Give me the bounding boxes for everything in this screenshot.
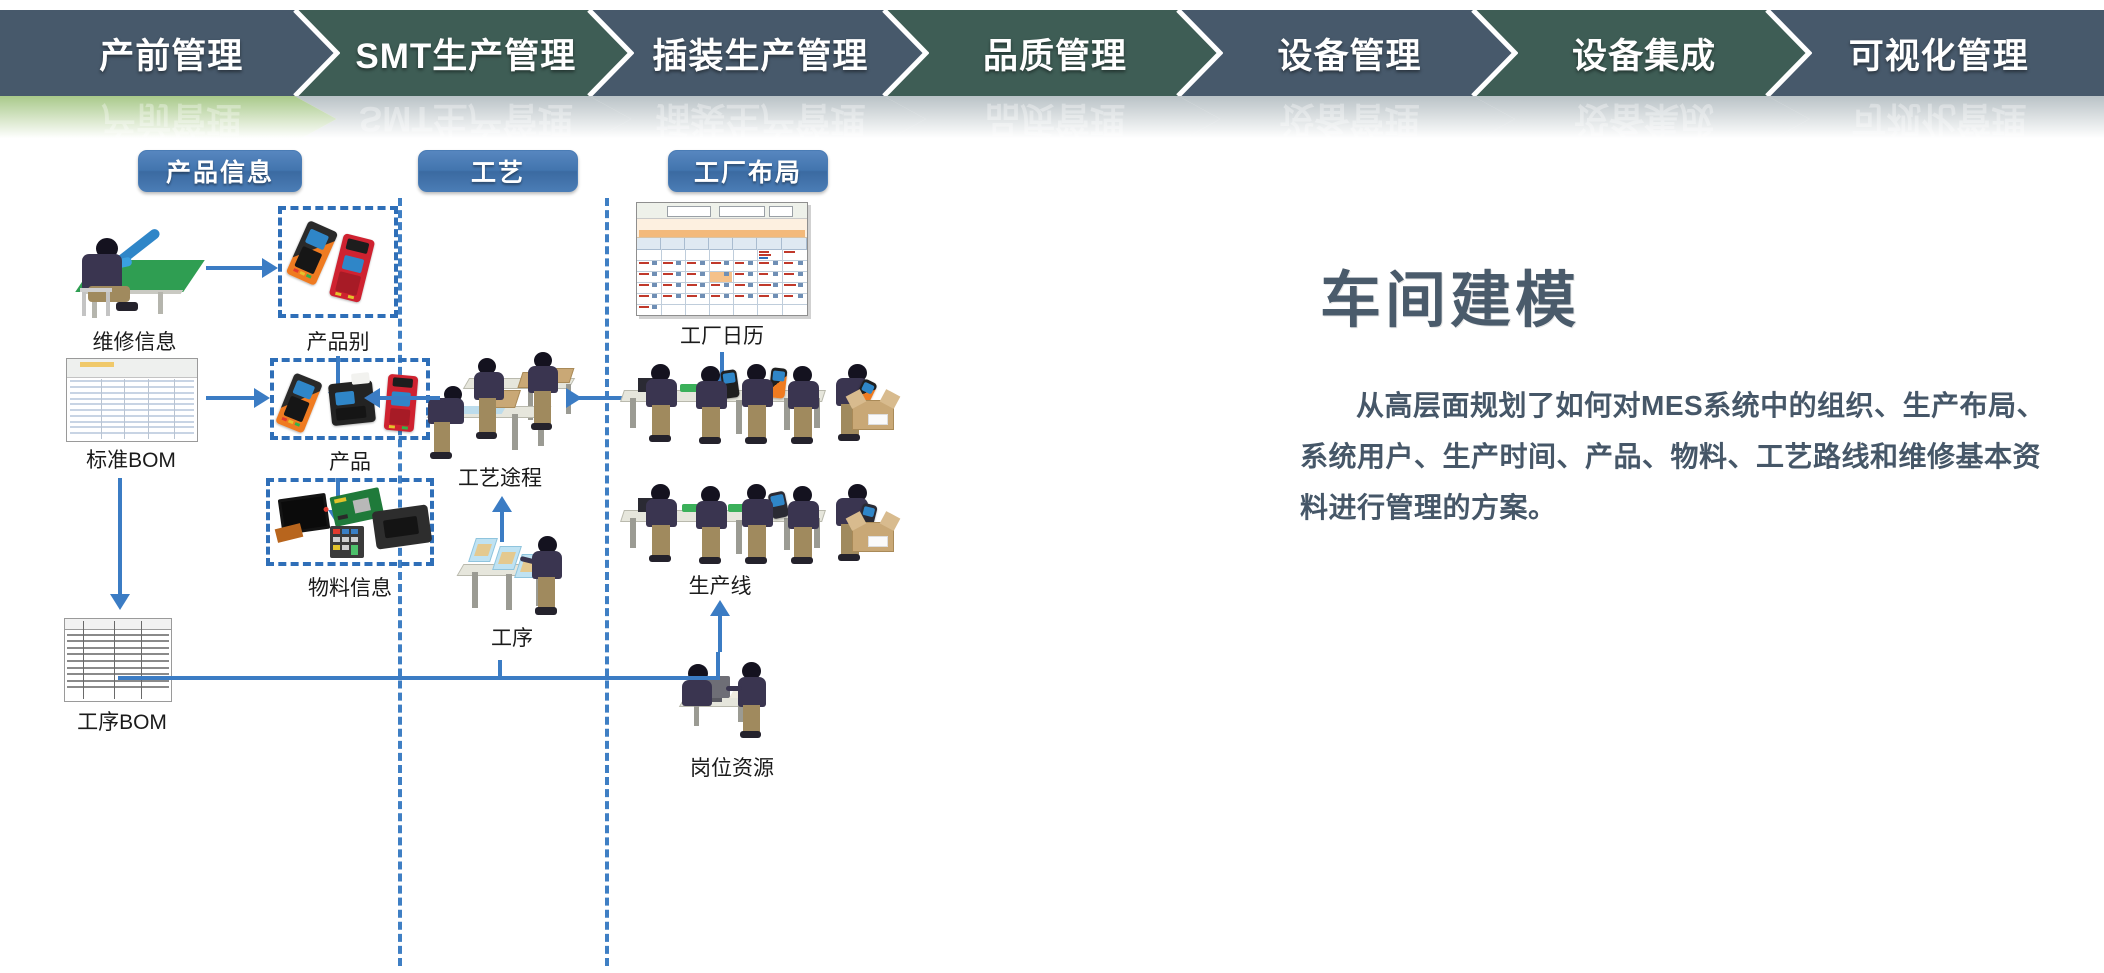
nav-chevron-1[interactable]: 产前管理 — [0, 10, 337, 96]
caption-factory-calendar: 工厂日历 — [642, 320, 802, 350]
nav-chevron-reflection-label: 可视化管理 — [1845, 96, 2026, 142]
standard-bom-thumbnail — [66, 358, 198, 442]
nav-chevron-label: 设备管理 — [1272, 28, 1422, 79]
arrow-head — [254, 388, 270, 408]
bottom-bus-line — [118, 676, 720, 680]
column-header-label: 产品信息 — [166, 153, 274, 189]
description-panel: 车间建模 从高层面规划了如何对MES系统中的组织、生产布局、系统用户、生产时间、… — [1300, 130, 2090, 973]
nav-chevron-label: 插装生产管理 — [646, 28, 868, 79]
chevron-bar-reflection: 产前管理SMT生产管理插装生产管理品质管理设备管理设备集成可视化管理 — [0, 96, 2104, 142]
arrow-head — [492, 496, 512, 512]
nav-chevron-reflection-label: 设备集成 — [1568, 96, 1714, 142]
nav-chevron-reflection-3: 插装生产管理 — [589, 96, 926, 142]
production-line-a-illustration — [620, 358, 890, 450]
nav-chevron-label: 设备集成 — [1566, 28, 1716, 79]
nav-chevron-5[interactable]: 设备管理 — [1178, 10, 1515, 96]
factory-calendar-thumbnail — [636, 202, 808, 316]
nav-chevron-label: 可视化管理 — [1843, 28, 2029, 79]
arrow-head — [110, 594, 130, 610]
production-line-b-illustration — [620, 478, 890, 570]
arrow-line-left — [380, 396, 440, 400]
arrow-head — [710, 600, 730, 616]
nav-chevron-reflection-2: SMT生产管理 — [295, 96, 632, 142]
column-header-label: 工艺 — [471, 153, 525, 189]
product-type-box — [278, 206, 398, 318]
nav-chevron-label: 品质管理 — [977, 28, 1127, 79]
nav-chevron-reflection-label: 设备管理 — [1274, 96, 1420, 142]
top-navigation: 产前管理SMT生产管理插装生产管理品质管理设备管理设备集成可视化管理 产前管理S… — [0, 0, 2104, 130]
arrow-head — [364, 388, 380, 408]
arrow-line — [118, 478, 122, 596]
caption-operation-bom: 工序BOM — [52, 706, 192, 736]
caption-process-routing: 工艺途程 — [420, 462, 580, 492]
column-header-factory-layout[interactable]: 工厂布局 — [668, 150, 828, 192]
workshop-modeling-diagram: 产品信息 工艺 工厂布局 维修信息 — [0, 130, 1290, 973]
column-header-label: 工厂布局 — [694, 153, 802, 189]
nav-chevron-label: 产前管理 — [93, 28, 243, 79]
page-title: 车间建模 — [1320, 250, 1580, 339]
column-header-product-info[interactable]: 产品信息 — [138, 150, 302, 192]
caption-workstation-resource: 岗位资源 — [662, 752, 802, 782]
nav-chevron-3[interactable]: 插装生产管理 — [589, 10, 926, 96]
nav-chevron-reflection-1: 产前管理 — [0, 96, 337, 142]
caption-operation: 工序 — [442, 622, 582, 652]
workstation-resource-illustration — [676, 654, 786, 750]
nav-chevron-reflection-7: 可视化管理 — [1767, 96, 2104, 142]
caption-repair-info: 维修信息 — [62, 326, 207, 356]
caption-product: 产品 — [270, 446, 430, 476]
nav-chevron-reflection-5: 设备管理 — [1178, 96, 1515, 142]
material-info-box — [266, 478, 434, 566]
operation-bom-thumbnail — [64, 618, 172, 702]
nav-chevron-reflection-label: 产前管理 — [95, 96, 241, 142]
arrow-line — [498, 660, 502, 678]
arrow-line — [206, 396, 256, 400]
process-routing-illustration — [420, 350, 578, 460]
arrow-head — [262, 258, 278, 278]
nav-chevron-reflection-label: SMT生产管理 — [353, 96, 573, 142]
caption-material-info: 物料信息 — [260, 572, 440, 602]
arrow-line — [500, 508, 504, 542]
nav-chevron-reflection-label: 品质管理 — [979, 96, 1125, 142]
arrow-line — [718, 612, 722, 652]
arrow-line — [206, 266, 264, 270]
column-divider-right — [605, 198, 609, 966]
column-header-process[interactable]: 工艺 — [418, 150, 578, 192]
arrow-head — [566, 388, 582, 408]
repair-info-illustration — [72, 218, 197, 323]
arrow-line — [716, 652, 720, 678]
chevron-breadcrumb-bar: 产前管理SMT生产管理插装生产管理品质管理设备管理设备集成可视化管理 — [0, 10, 2104, 96]
caption-product-type: 产品别 — [268, 326, 408, 356]
nav-chevron-2[interactable]: SMT生产管理 — [295, 10, 632, 96]
nav-chevron-reflection-label: 插装生产管理 — [649, 96, 865, 142]
nav-chevron-reflection-4: 品质管理 — [884, 96, 1221, 142]
nav-chevron-label: SMT生产管理 — [349, 28, 576, 79]
nav-chevron-6[interactable]: 设备集成 — [1473, 10, 1810, 96]
operation-illustration — [452, 522, 572, 622]
nav-chevron-reflection-6: 设备集成 — [1473, 96, 1810, 142]
caption-standard-bom: 标准BOM — [56, 444, 206, 474]
caption-production-line: 生产线 — [640, 570, 800, 600]
nav-chevron-4[interactable]: 品质管理 — [884, 10, 1221, 96]
description-text: 从高层面规划了如何对MES系统中的组织、生产布局、系统用户、生产时间、产品、物料… — [1300, 380, 2060, 533]
nav-chevron-7[interactable]: 可视化管理 — [1767, 10, 2104, 96]
